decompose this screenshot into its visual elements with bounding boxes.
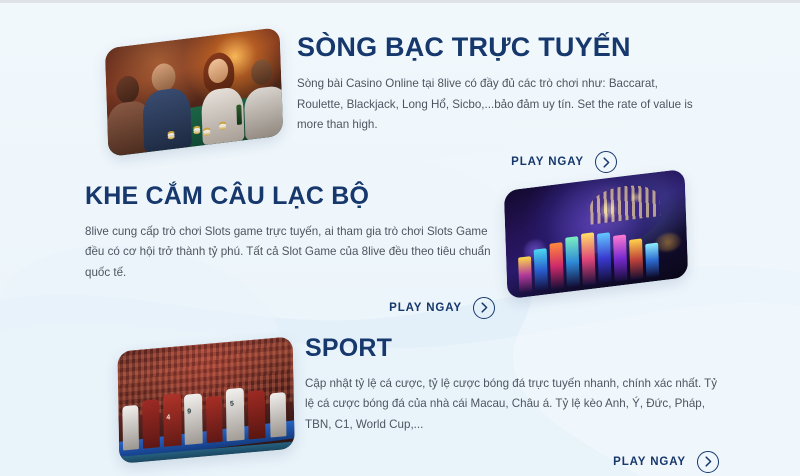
jersey-number: 4 (166, 414, 170, 421)
slots-play-label: PLAY NGAY (389, 302, 462, 314)
slots-heading: KHE CẮM CÂU LẠC BỘ (85, 182, 495, 210)
slots-cta-row: PLAY NGAY (85, 297, 495, 319)
sport-cta-row: PLAY NGAY (305, 451, 719, 473)
sport-heading: SPORT (305, 334, 719, 362)
casino-copy: SÒNG BẠC TRỰC TUYẾN Sòng bài Casino Onli… (297, 32, 699, 173)
casino-table-photo (105, 27, 283, 157)
page-root: SÒNG BẠC TRỰC TUYẾN Sòng bài Casino Onli… (0, 0, 800, 476)
slots-play-button[interactable]: PLAY NGAY (389, 297, 495, 319)
casino-heading: SÒNG BẠC TRỰC TUYẾN (297, 32, 699, 62)
slots-copy: KHE CẮM CÂU LẠC BỘ 8live cung cấp trò ch… (85, 182, 495, 319)
chevron-right-circle-icon[interactable] (473, 297, 495, 319)
sport-play-label: PLAY NGAY (613, 456, 686, 468)
slot-machines-photo (504, 169, 688, 300)
section-slots: KHE CẮM CÂU LẠC BỘ 8live cung cấp trò ch… (0, 168, 800, 319)
sport-copy: SPORT Cập nhật tỷ lệ cá cược, tỷ lệ cược… (305, 334, 719, 473)
sport-play-button[interactable]: PLAY NGAY (613, 451, 719, 473)
football-match-photo: 5 9 4 (117, 336, 294, 464)
jersey-number: 9 (187, 408, 191, 415)
slots-description: 8live cung cấp trò chơi Slots game trực … (85, 222, 495, 283)
chevron-right-circle-icon[interactable] (697, 451, 719, 473)
section-sport: 5 9 4 SPORT Cập nhật tỷ lệ cá cược, tỷ l… (0, 328, 800, 473)
jersey-number: 5 (230, 401, 234, 408)
casino-description: Sòng bài Casino Online tại 8live có đầy … (297, 74, 699, 135)
top-divider-line (0, 0, 800, 3)
sport-image-wrap: 5 9 4 (0, 328, 294, 456)
slots-image-wrap (495, 168, 687, 288)
section-casino: SÒNG BẠC TRỰC TUYẾN Sòng bài Casino Onli… (0, 20, 800, 173)
sport-description: Cập nhật tỷ lệ cá cược, tỷ lệ cược bóng … (305, 374, 719, 435)
casino-image-wrap (0, 20, 282, 146)
casino-play-label: PLAY NGAY (511, 156, 584, 168)
